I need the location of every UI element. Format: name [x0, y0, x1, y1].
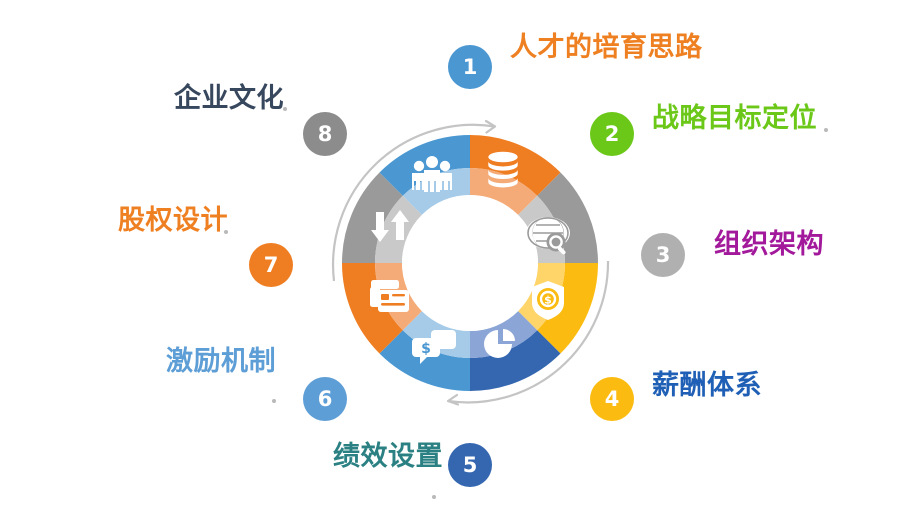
- step-label-6[interactable]: 激励机制: [166, 348, 276, 375]
- trailing-dot-2: [824, 128, 828, 132]
- wheel-hub: [402, 195, 538, 331]
- step-badge-8[interactable]: 8: [303, 112, 347, 156]
- trailing-dot-7: [224, 230, 228, 234]
- cycle-wheel: $ $: [320, 113, 620, 413]
- svg-text:$: $: [421, 341, 431, 357]
- step-badge-1[interactable]: 1: [448, 45, 492, 89]
- arrowhead-bottom: [448, 395, 458, 405]
- step-badge-7[interactable]: 7: [249, 243, 293, 287]
- step-badge-5[interactable]: 5: [448, 443, 492, 487]
- step-label-4[interactable]: 薪酬体系: [652, 372, 762, 399]
- step-badge-6[interactable]: 6: [303, 377, 347, 421]
- step-badge-2[interactable]: 2: [590, 112, 634, 156]
- svg-text:$: $: [544, 293, 552, 306]
- people-group-icon: [412, 156, 452, 192]
- step-label-5[interactable]: 绩效设置: [333, 443, 443, 470]
- step-badge-4[interactable]: 4: [590, 377, 634, 421]
- step-label-2[interactable]: 战略目标定位: [652, 105, 817, 132]
- infographic-canvas: $ $: [0, 0, 919, 506]
- step-label-8[interactable]: 企业文化: [174, 85, 284, 112]
- stray-dot-bottom: [432, 495, 436, 499]
- step-label-1[interactable]: 人才的培育思路: [510, 34, 703, 61]
- cycle-wheel-svg: $ $: [320, 113, 620, 413]
- stray-dot-left: [272, 399, 276, 403]
- step-label-7[interactable]: 股权设计: [118, 207, 228, 234]
- step-label-3[interactable]: 组织架构: [714, 231, 824, 258]
- step-badge-3[interactable]: 3: [641, 233, 685, 277]
- trailing-dot-8: [283, 107, 287, 111]
